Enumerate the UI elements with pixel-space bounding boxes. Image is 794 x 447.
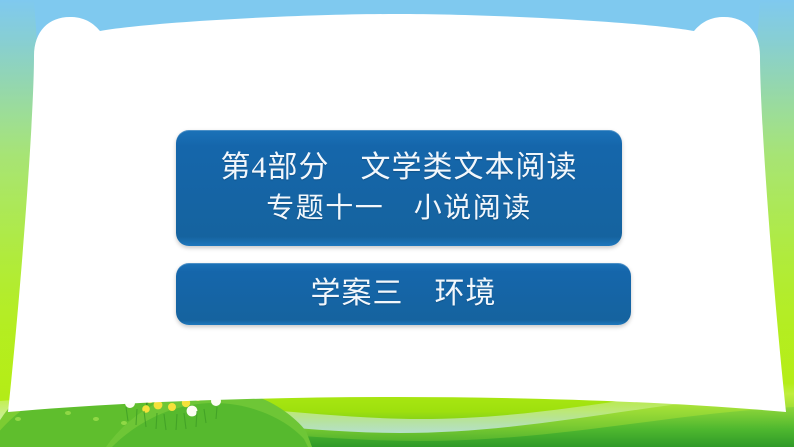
slide-canvas: 第4部分 文学类文本阅读 专题十一 小说阅读 学案三 环境 (0, 0, 794, 447)
title-box-main[interactable]: 第4部分 文学类文本阅读 专题十一 小说阅读 (176, 130, 622, 246)
title-line-topic: 专题十一 小说阅读 (266, 189, 532, 229)
title-line-part: 第4部分 文学类文本阅读 (221, 147, 578, 190)
slide-content: 第4部分 文学类文本阅读 专题十一 小说阅读 学案三 环境 (0, 0, 794, 447)
lesson-line: 学案三 环境 (311, 273, 497, 316)
title-box-lesson[interactable]: 学案三 环境 (176, 263, 631, 325)
